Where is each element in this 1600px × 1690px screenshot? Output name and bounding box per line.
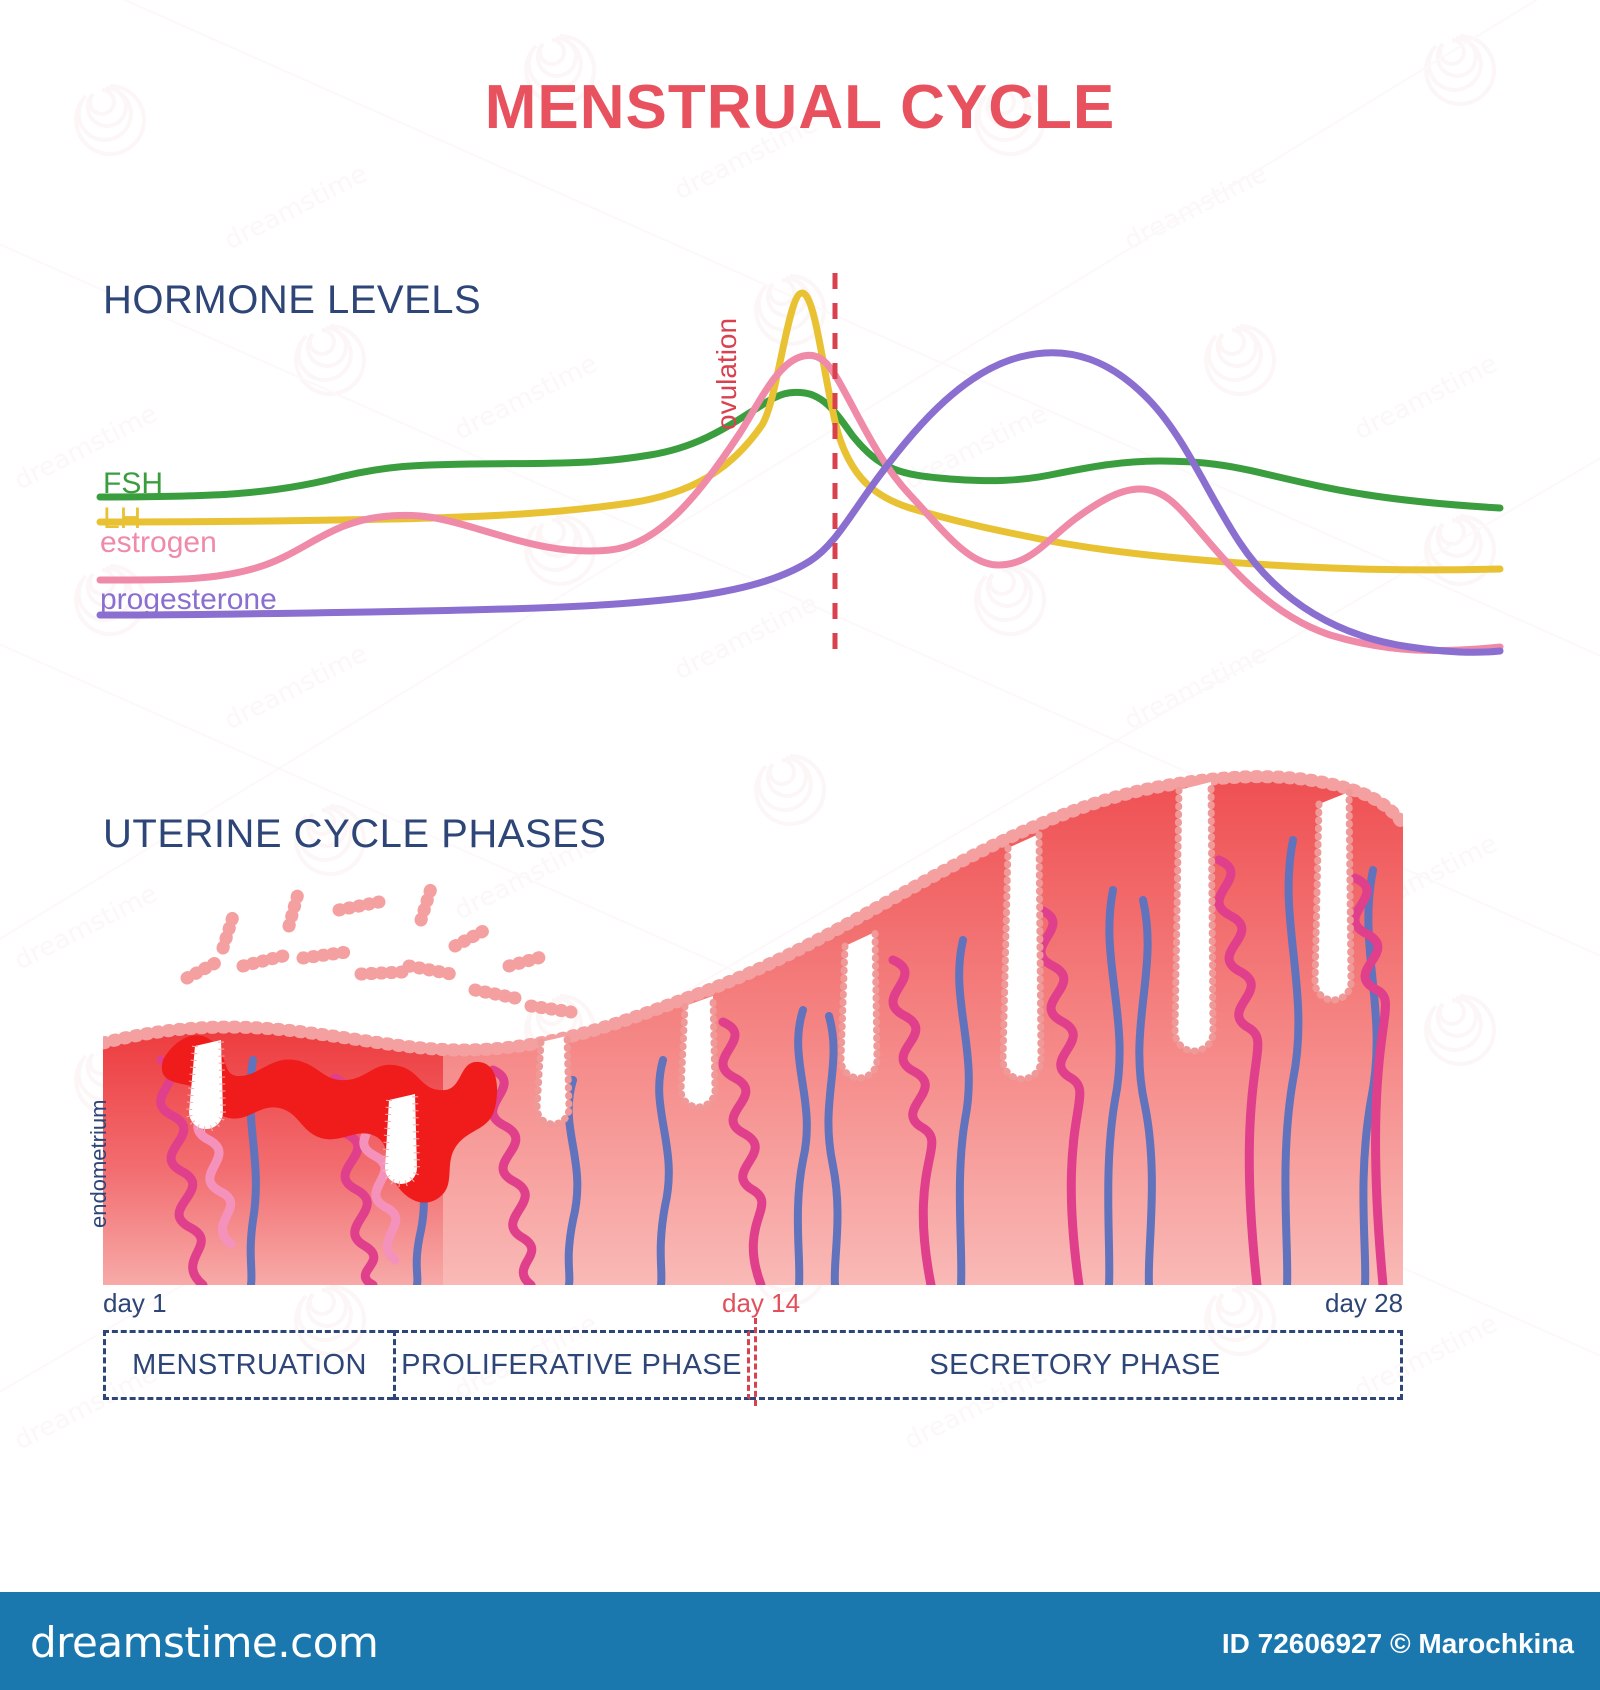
endometrium-axis-label: endometrium — [86, 1100, 112, 1228]
series-line-fsh — [100, 392, 1500, 508]
series-line-progesterone — [100, 353, 1500, 652]
endometrium-illustration — [103, 760, 1403, 1285]
phase-bar: MENSTRUATION PROLIFERATIVE PHASE SECRETO… — [103, 1330, 1403, 1400]
series-line-estrogen — [100, 355, 1500, 650]
legend-label-progesterone: progesterone — [100, 583, 277, 617]
infographic-canvas: dreamstime — [0, 0, 1600, 1690]
ovulation-label: ovulation — [711, 318, 743, 430]
footer-credit-text: ID 72606927 © Marochkina — [1222, 1628, 1574, 1660]
hormone-levels-chart — [90, 265, 1510, 675]
day-14-label: day 14 — [722, 1288, 800, 1319]
phase-label-menstruation: MENSTRUATION — [132, 1349, 367, 1382]
legend-label-fsh: FSH — [103, 467, 163, 501]
phase-box-proliferative: PROLIFERATIVE PHASE — [393, 1330, 750, 1400]
phase-box-menstruation: MENSTRUATION — [103, 1330, 393, 1400]
page-title: MENSTRUAL CYCLE — [0, 72, 1600, 143]
series-line-lh — [100, 293, 1500, 570]
dreamstime-logo-text: dreamstime.com — [30, 1618, 378, 1667]
phase-label-proliferative: PROLIFERATIVE PHASE — [401, 1349, 742, 1382]
legend-label-estrogen: estrogen — [100, 526, 217, 560]
phase-box-secretory: SECRETORY PHASE — [750, 1330, 1403, 1400]
day-28-label: day 28 — [1325, 1288, 1403, 1319]
dreamstime-logo: dreamstime.com — [30, 1618, 378, 1667]
phase-label-secretory: SECRETORY PHASE — [929, 1349, 1220, 1382]
detached-cell-clusters — [187, 882, 571, 1012]
day-1-label: day 1 — [103, 1288, 167, 1319]
day-14-divider-line — [754, 1318, 757, 1406]
footer-bar: dreamstime.com ID 72606927 © Marochkina — [0, 1592, 1600, 1690]
